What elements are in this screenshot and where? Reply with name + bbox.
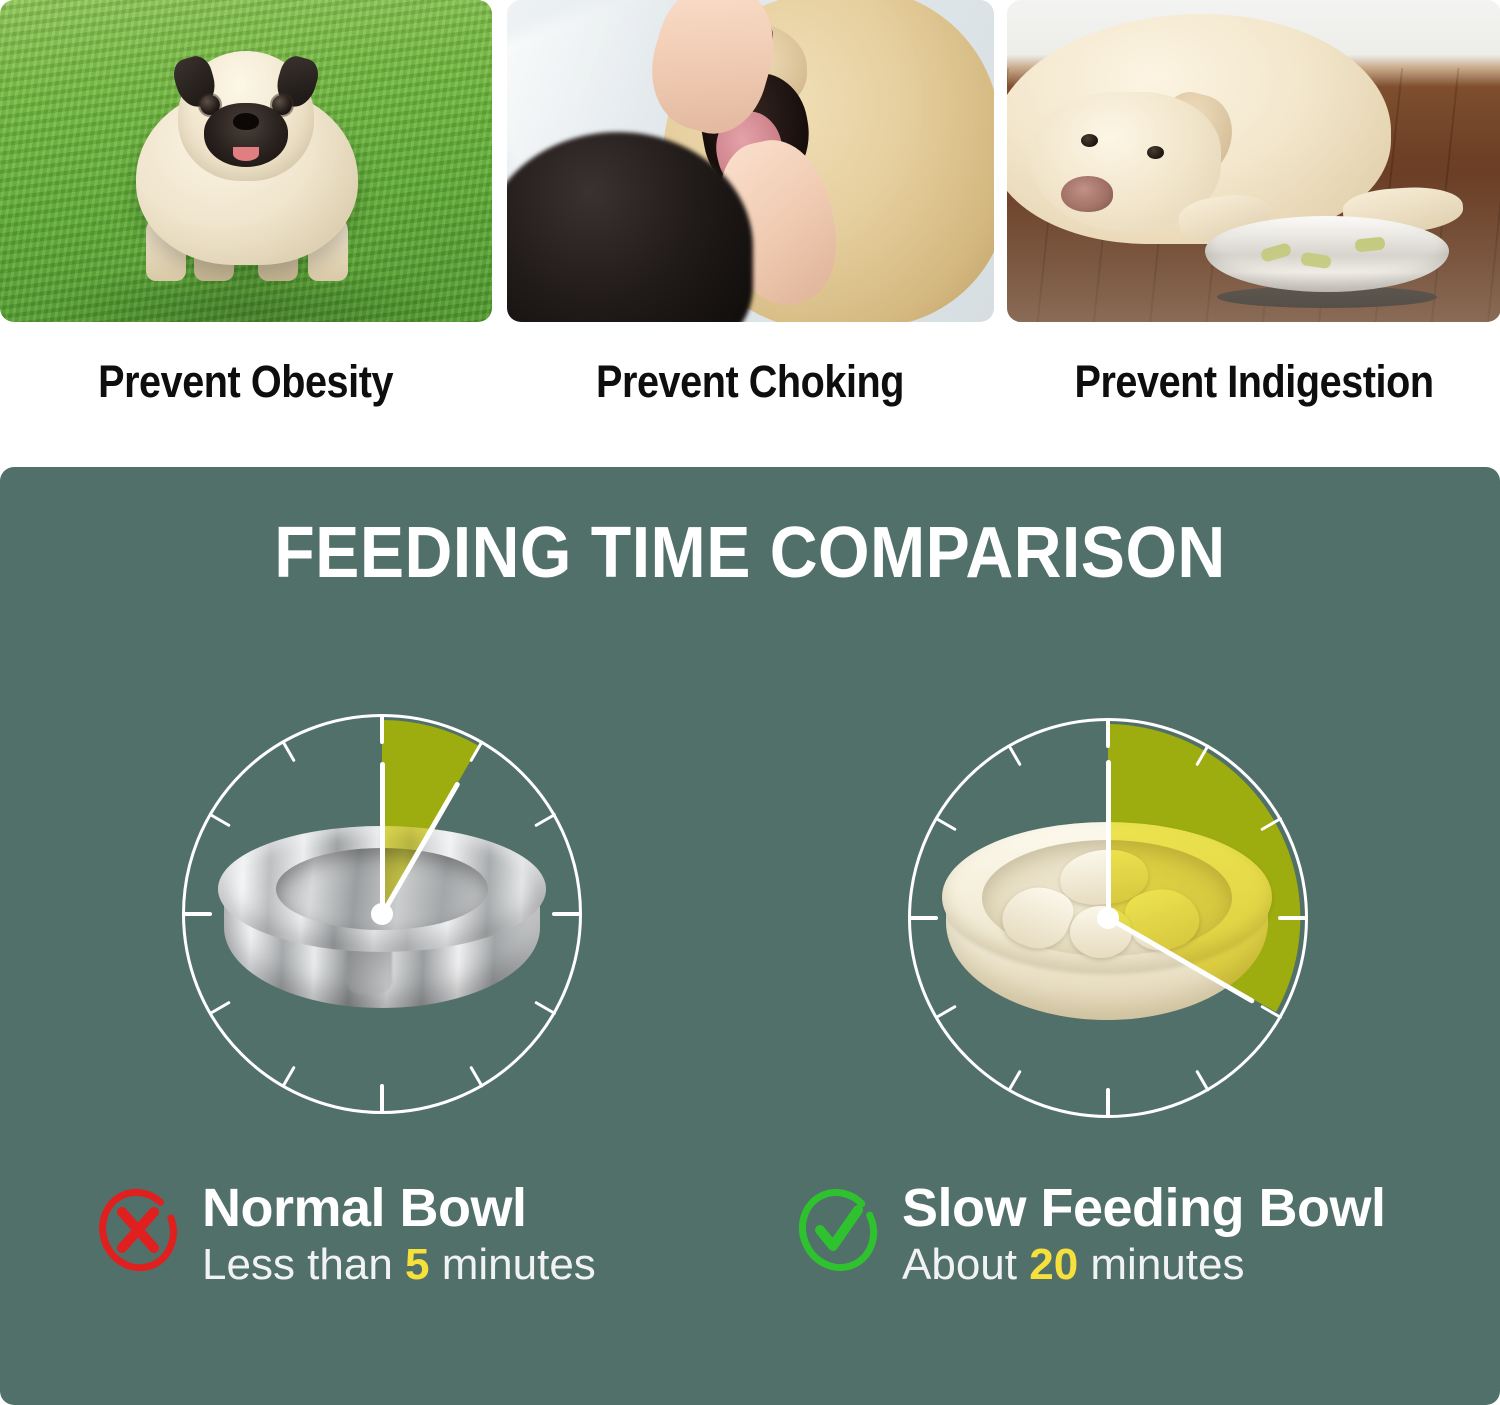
benefits-strip: Prevent Obesity Prevent Choking <box>0 0 1500 455</box>
clock-normal-bowl <box>182 714 582 1114</box>
result-text-slow: Slow Feeding Bowl About 20 minutes <box>902 1180 1386 1289</box>
check-icon <box>796 1188 880 1272</box>
result-slow-feeding-bowl: Slow Feeding Bowl About 20 minutes <box>796 1180 1386 1360</box>
sub-number-normal: 5 <box>405 1240 429 1289</box>
result-title-normal: Normal Bowl <box>202 1180 596 1236</box>
photo-prevent-obesity <box>0 0 492 322</box>
clock-slow-feeding-bowl <box>908 718 1308 1118</box>
clock-hand-start-right <box>1106 760 1111 918</box>
photo-prevent-indigestion <box>1007 0 1500 322</box>
sub-number-slow: 20 <box>1029 1240 1078 1289</box>
pug-dog-illustration <box>122 51 370 283</box>
result-subtitle-normal: Less than 5 minutes <box>202 1240 596 1289</box>
clock-hub-right <box>1097 907 1119 929</box>
clock-dial-right <box>908 718 1308 1118</box>
benefit-caption-obesity: Prevent Obesity <box>99 356 394 408</box>
comparison-results: Normal Bowl Less than 5 minutes Slow Fee… <box>0 1180 1500 1360</box>
infographic-page: Prevent Obesity Prevent Choking <box>0 0 1500 1405</box>
clock-hub-left <box>371 903 393 925</box>
benefit-card-indigestion: Prevent Indigestion <box>1008 0 1500 408</box>
sub-prefix-normal: Less than <box>202 1240 405 1289</box>
vet-scene-background <box>507 0 994 322</box>
result-text-normal: Normal Bowl Less than 5 minutes <box>202 1180 596 1289</box>
benefit-card-obesity: Prevent Obesity <box>0 0 492 408</box>
benefit-card-choking: Prevent Choking <box>504 0 996 408</box>
result-normal-bowl: Normal Bowl Less than 5 minutes <box>96 1180 736 1360</box>
panel-title: FEEDING TIME COMPARISON <box>60 512 1440 594</box>
benefit-caption-choking: Prevent Choking <box>596 356 904 408</box>
sub-suffix-normal: minutes <box>430 1240 596 1289</box>
result-title-slow: Slow Feeding Bowl <box>902 1180 1386 1236</box>
feeding-comparison-panel: FEEDING TIME COMPARISON <box>0 467 1500 1405</box>
benefit-caption-indigestion: Prevent Indigestion <box>1074 356 1433 408</box>
sub-suffix-slow: minutes <box>1078 1240 1244 1289</box>
clock-dial-left <box>182 714 582 1114</box>
wood-floor-background <box>1007 0 1500 322</box>
photo-prevent-choking <box>507 0 994 322</box>
clock-hand-start-left <box>380 762 385 914</box>
sub-prefix-slow: About <box>902 1240 1029 1289</box>
cross-icon <box>96 1188 180 1272</box>
result-subtitle-slow: About 20 minutes <box>902 1240 1386 1289</box>
